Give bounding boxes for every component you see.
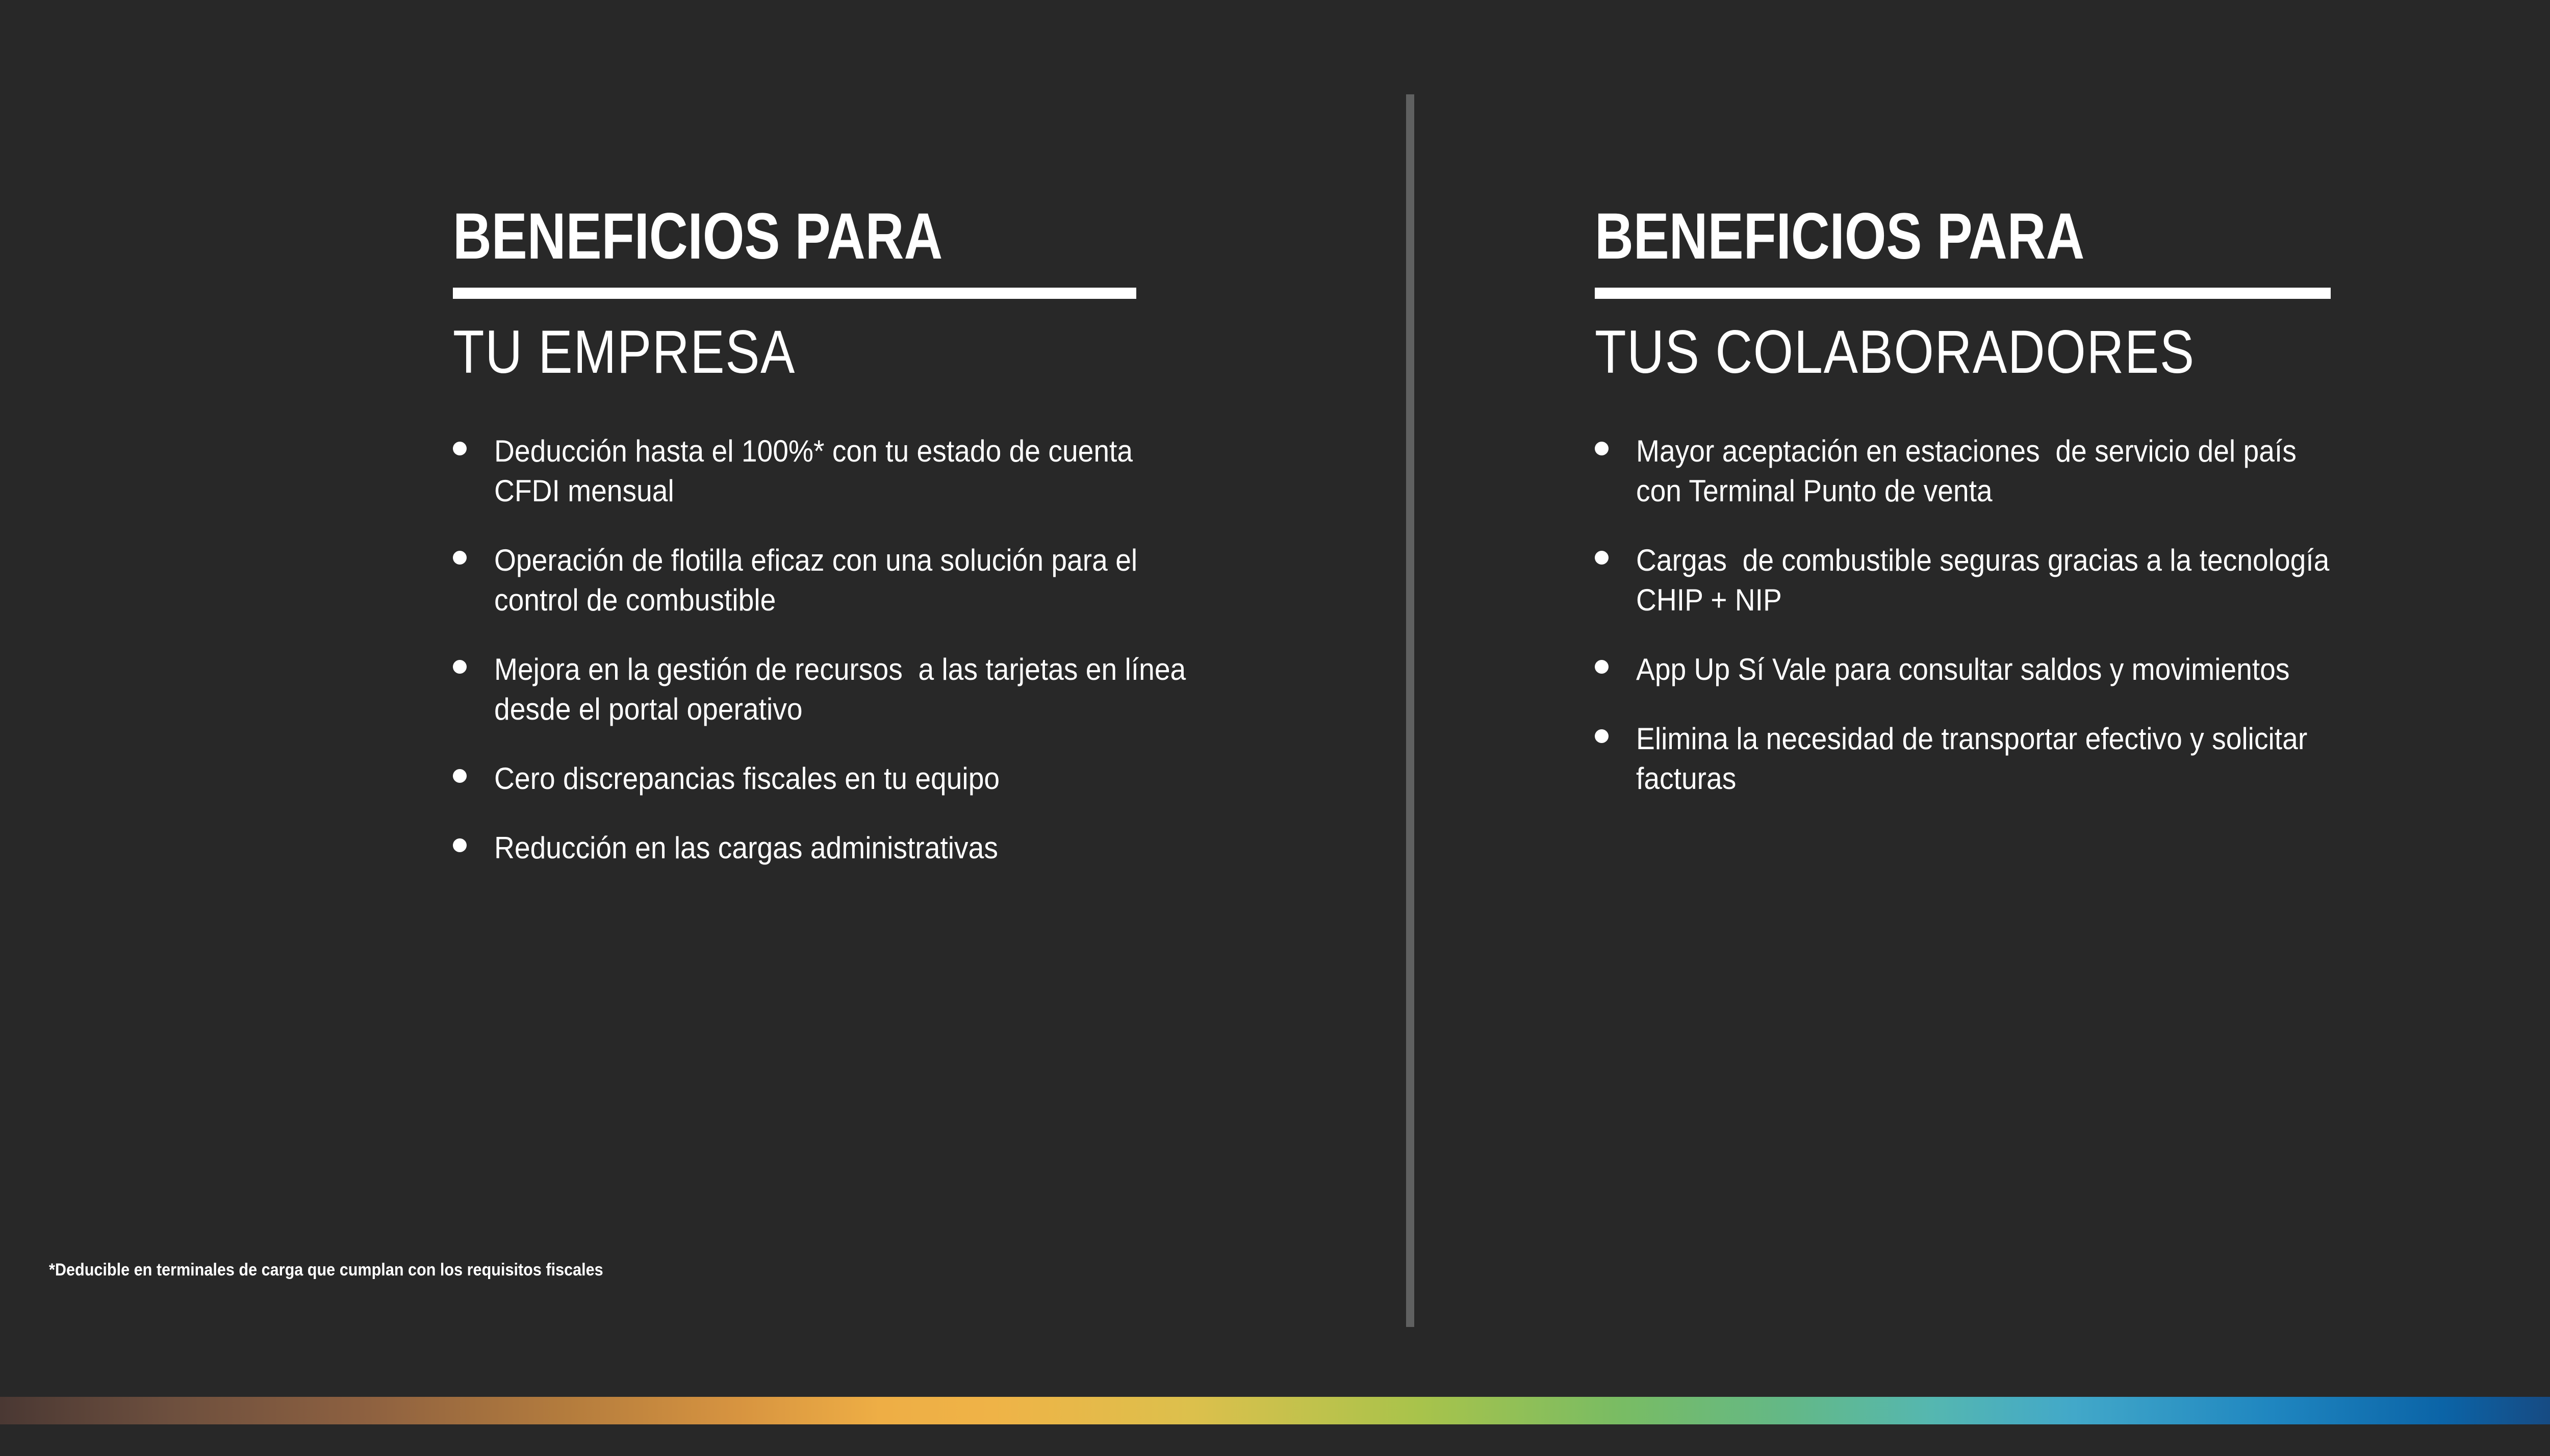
footnote-text: *Deducible en terminales de carga que cu… — [49, 1260, 603, 1280]
bullet-dot-icon — [453, 769, 467, 783]
heading-light-empresa: TU EMPRESA — [453, 321, 1181, 382]
list-item: Cero discrepancias fiscales en tu equipo — [453, 759, 1320, 799]
list-item: App Up Sí Vale para consultar saldos y m… — [1595, 650, 2462, 689]
bullet-dot-icon — [1595, 729, 1609, 743]
bullet-text: Operación de flotilla eficaz con una sol… — [494, 541, 1189, 620]
bullet-dot-icon — [453, 660, 467, 674]
bullet-dot-icon — [1595, 551, 1609, 565]
heading-rule-colaboradores — [1595, 288, 2331, 299]
bullet-text: Reducción en las cargas administrativas — [494, 828, 998, 868]
heading-rule-empresa — [453, 288, 1136, 299]
bullet-list-empresa: Deducción hasta el 100%* con tu estado d… — [453, 431, 1320, 868]
list-item: Operación de flotilla eficaz con una sol… — [453, 541, 1320, 620]
list-item: Elimina la necesidad de transportar efec… — [1595, 719, 2462, 799]
bullet-text: Mejora en la gestión de recursos a las t… — [494, 650, 1189, 729]
list-item: Reducción en las cargas administrativas — [453, 828, 1320, 868]
heading-light-colaboradores: TUS COLABORADORES — [1595, 321, 2323, 382]
list-item: Deducción hasta el 100%* con tu estado d… — [453, 431, 1320, 511]
bullet-text: Mayor aceptación en estaciones de servic… — [1636, 431, 2349, 511]
bullet-list-colaboradores: Mayor aceptación en estaciones de servic… — [1595, 431, 2462, 799]
list-item: Mejora en la gestión de recursos a las t… — [453, 650, 1320, 729]
column-empresa: BENEFICIOS PARA TU EMPRESA Deducción has… — [453, 204, 1320, 898]
heading-bold-colaboradores: BENEFICIOS PARA — [1595, 204, 2306, 269]
slide-root: Up sí vale El poder de crecer BENEFICIOS… — [0, 0, 2550, 1456]
list-item: Cargas de combustible seguras gracias a … — [1595, 541, 2462, 620]
column-divider — [1406, 94, 1414, 1327]
bullet-text: Deducción hasta el 100%* con tu estado d… — [494, 431, 1189, 511]
bullet-text: Cargas de combustible seguras gracias a … — [1636, 541, 2349, 620]
bullet-text: App Up Sí Vale para consultar saldos y m… — [1636, 650, 2289, 689]
bullet-dot-icon — [453, 838, 467, 852]
bullet-dot-icon — [1595, 660, 1609, 674]
column-colaboradores: BENEFICIOS PARA TUS COLABORADORES Mayor … — [1595, 204, 2462, 828]
bullet-dot-icon — [453, 551, 467, 565]
bullet-text: Elimina la necesidad de transportar efec… — [1636, 719, 2349, 799]
bottom-gradient-bar — [0, 1397, 2550, 1424]
list-item: Mayor aceptación en estaciones de servic… — [1595, 431, 2462, 511]
heading-bold-empresa: BENEFICIOS PARA — [453, 204, 1164, 269]
bullet-text: Cero discrepancias fiscales en tu equipo — [494, 759, 1000, 799]
bullet-dot-icon — [453, 442, 467, 455]
bullet-dot-icon — [1595, 442, 1609, 455]
